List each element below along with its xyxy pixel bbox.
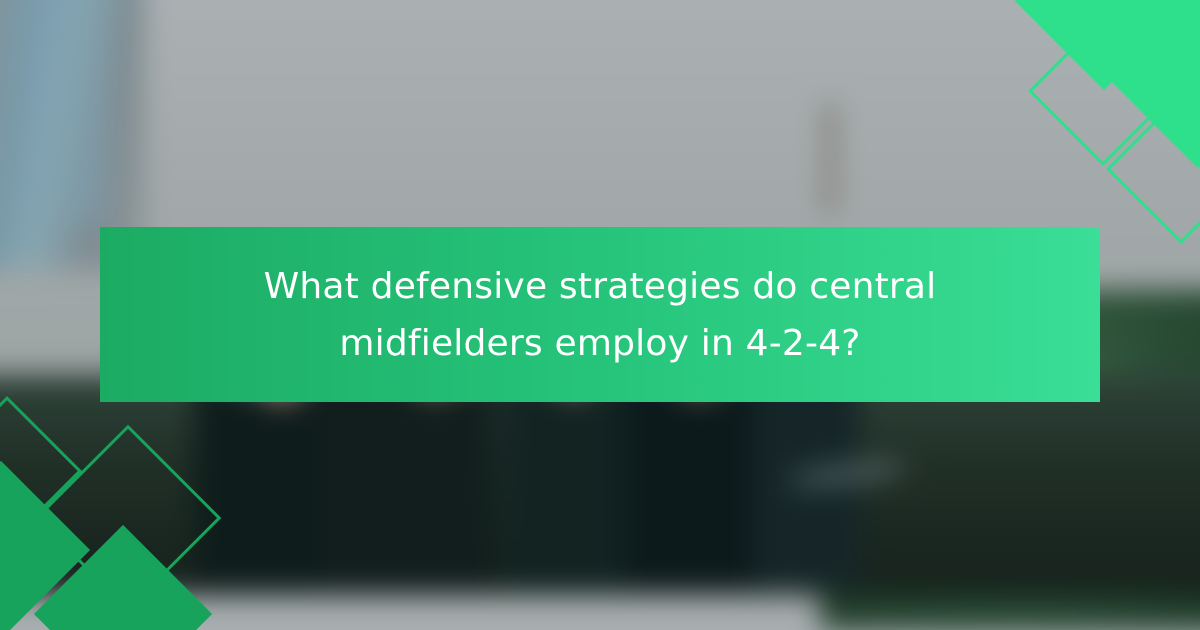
social-card: What defensive strategies do central mid… xyxy=(0,0,1200,630)
question-title: What defensive strategies do central mid… xyxy=(160,258,1040,372)
question-banner: What defensive strategies do central mid… xyxy=(100,227,1100,402)
